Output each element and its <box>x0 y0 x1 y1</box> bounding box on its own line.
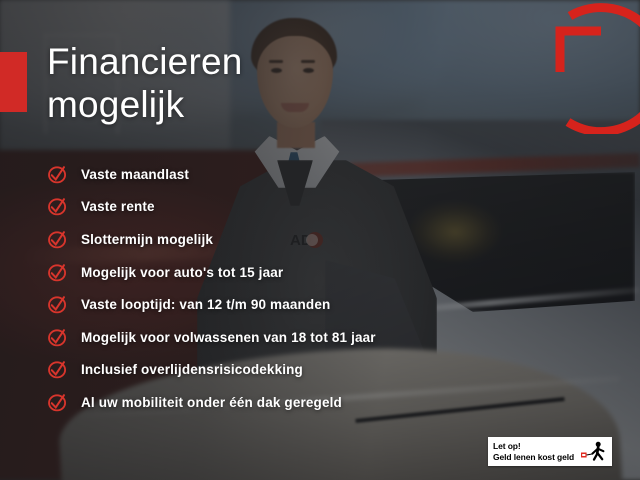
page-title: Financieren mogelijk <box>47 40 243 126</box>
warning-line-1: Let op! <box>493 441 581 452</box>
feature-list: Vaste maandlast Vaste rente Slottermijn … <box>47 158 467 419</box>
list-item: Inclusief overlijdensrisicodekking <box>47 354 467 387</box>
list-item-label: Vaste maandlast <box>81 167 189 182</box>
check-circle-icon <box>47 164 68 185</box>
list-item-label: Vaste rente <box>81 199 155 214</box>
list-item-label: Al uw mobiliteit onder één dak geregeld <box>81 395 342 410</box>
list-item-label: Vaste looptijd: van 12 t/m 90 maanden <box>81 297 330 312</box>
check-circle-icon <box>47 229 68 250</box>
status-badge: Let op! Geld lenen kost geld <box>488 437 612 466</box>
red-accent-block <box>0 52 27 112</box>
list-item: Mogelijk voor volwassenen van 18 tot 81 … <box>47 321 467 354</box>
list-item: Al uw mobiliteit onder één dak geregeld <box>47 386 467 419</box>
list-item: Vaste looptijd: van 12 t/m 90 maanden <box>47 288 467 321</box>
circular-arrow-icon <box>538 0 640 134</box>
list-item: Vaste maandlast <box>47 158 467 191</box>
check-circle-icon <box>47 327 68 348</box>
list-item: Slottermijn mogelijk <box>47 223 467 256</box>
list-item-label: Slottermijn mogelijk <box>81 232 213 247</box>
financing-promo-banner: AD Financieren mogelijk <box>0 0 640 480</box>
list-item-label: Mogelijk voor volwassenen van 18 tot 81 … <box>81 330 376 345</box>
list-item-label: Inclusief overlijdensrisicodekking <box>81 362 303 377</box>
check-circle-icon <box>47 359 68 380</box>
check-circle-icon <box>47 392 68 413</box>
list-item-label: Mogelijk voor auto's tot 15 jaar <box>81 265 283 280</box>
list-item: Vaste rente <box>47 191 467 224</box>
check-circle-icon <box>47 262 68 283</box>
walking-person-dragging-weight-icon <box>581 441 607 463</box>
warning-badge-text: Let op! Geld lenen kost geld <box>493 441 581 462</box>
list-item: Mogelijk voor auto's tot 15 jaar <box>47 256 467 289</box>
warning-line-2: Geld lenen kost geld <box>493 452 581 463</box>
check-circle-icon <box>47 196 68 217</box>
check-circle-icon <box>47 294 68 315</box>
